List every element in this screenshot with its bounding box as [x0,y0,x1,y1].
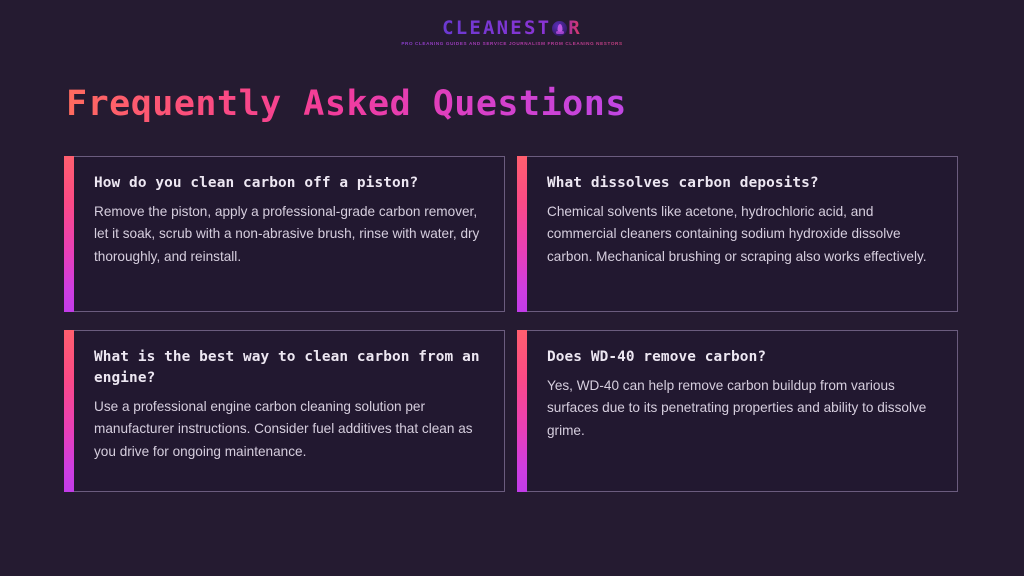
faq-card[interactable]: What dissolves carbon deposits? Chemical… [517,156,958,312]
logo-text-secondary: R [568,19,582,38]
faq-card[interactable]: What is the best way to clean carbon fro… [64,330,505,492]
faq-accent-bar [517,330,527,492]
faq-card-body: Does WD-40 remove carbon? Yes, WD-40 can… [527,330,958,492]
logo-wordmark: CLEANEST R [442,19,582,38]
logo-tagline: PRO CLEANING GUIDES AND SERVICE JOURNALI… [401,42,622,47]
faq-question: How do you clean carbon off a piston? [94,173,486,194]
faq-accent-bar [64,330,74,492]
faq-card-body: How do you clean carbon off a piston? Re… [74,156,505,312]
faq-question: What is the best way to clean carbon fro… [94,347,486,389]
faq-card[interactable]: Does WD-40 remove carbon? Yes, WD-40 can… [517,330,958,492]
faq-question: What dissolves carbon deposits? [547,173,939,194]
faq-answer: Chemical solvents like acetone, hydrochl… [547,201,939,269]
faq-card-body: What is the best way to clean carbon fro… [74,330,505,492]
faq-answer: Remove the piston, apply a professional-… [94,201,486,269]
page-title: Frequently Asked Questions [66,84,627,124]
faq-question: Does WD-40 remove carbon? [547,347,939,368]
faq-accent-bar [517,156,527,312]
faq-card[interactable]: How do you clean carbon off a piston? Re… [64,156,505,312]
droplet-circle-icon [552,21,567,36]
site-logo[interactable]: CLEANEST R PRO CLEANING GUIDES AND SERVI… [401,19,622,47]
faq-answer: Yes, WD-40 can help remove carbon buildu… [547,375,939,443]
faq-accent-bar [64,156,74,312]
site-header: CLEANEST R PRO CLEANING GUIDES AND SERVI… [0,0,1024,56]
faq-grid: How do you clean carbon off a piston? Re… [64,156,958,492]
logo-text-primary: CLEANEST [442,19,551,38]
faq-answer: Use a professional engine carbon cleanin… [94,396,486,464]
faq-card-body: What dissolves carbon deposits? Chemical… [527,156,958,312]
